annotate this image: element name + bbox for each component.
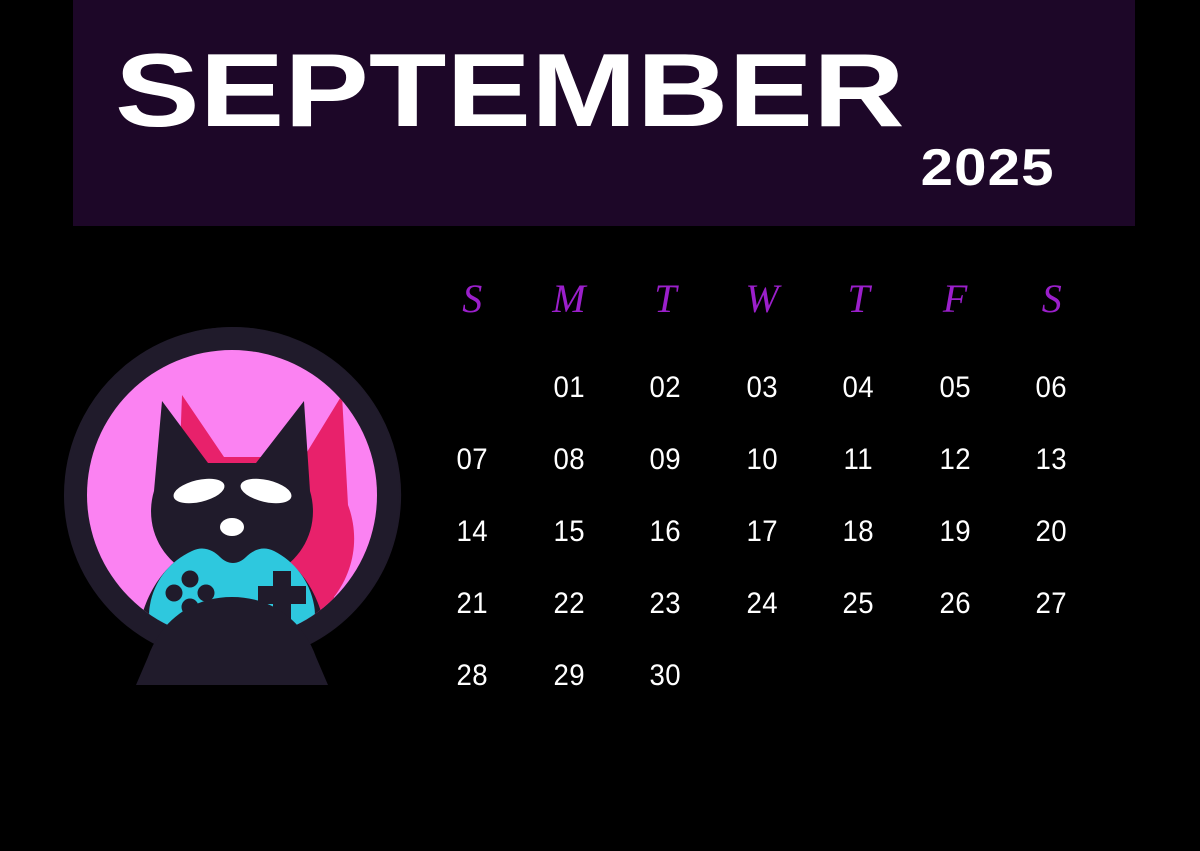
day-cell[interactable]: 10: [718, 424, 807, 496]
weekday-monday: M: [521, 277, 618, 321]
day-cell[interactable]: 23: [621, 568, 710, 640]
day-cell[interactable]: 25: [814, 568, 903, 640]
day-cell[interactable]: 19: [911, 496, 1000, 568]
day-cell[interactable]: 26: [911, 568, 1000, 640]
day-cell[interactable]: 22: [524, 568, 613, 640]
day-cell[interactable]: 27: [1007, 568, 1096, 640]
day-cell: [428, 352, 517, 424]
weekday-tuesday: T: [617, 277, 714, 321]
weekday-sunday: S: [424, 277, 521, 321]
day-cell[interactable]: 20: [1007, 496, 1096, 568]
day-cell[interactable]: 11: [814, 424, 903, 496]
calendar-page: SEPTEMBER 2025: [0, 0, 1200, 851]
day-cell[interactable]: 14: [428, 496, 517, 568]
day-cell[interactable]: 09: [621, 424, 710, 496]
page-title: SEPTEMBER: [115, 42, 1200, 140]
day-cell[interactable]: 28: [428, 640, 517, 712]
day-cell[interactable]: 06: [1007, 352, 1096, 424]
day-cell: [814, 640, 903, 712]
day-cell[interactable]: 05: [911, 352, 1000, 424]
day-cell[interactable]: 17: [718, 496, 807, 568]
day-cell[interactable]: 21: [428, 568, 517, 640]
calendar-grid: S M T W T F S 01 02 03 04 05 06 07 08 09…: [424, 268, 1100, 712]
gamer-cat-illustration: [42, 305, 422, 685]
day-cell[interactable]: 18: [814, 496, 903, 568]
days-grid: 01 02 03 04 05 06 07 08 09 10 11 12 13 1…: [424, 352, 1100, 712]
weekday-friday: F: [907, 277, 1004, 321]
day-cell[interactable]: 02: [621, 352, 710, 424]
day-cell[interactable]: 12: [911, 424, 1000, 496]
header-banner: SEPTEMBER 2025: [73, 0, 1135, 226]
day-cell[interactable]: 15: [524, 496, 613, 568]
day-cell[interactable]: 01: [524, 352, 613, 424]
day-cell: [718, 640, 807, 712]
weekday-saturday: S: [1003, 277, 1100, 321]
day-cell[interactable]: 03: [718, 352, 807, 424]
weekday-thursday: T: [810, 277, 907, 321]
day-cell: [1007, 640, 1096, 712]
day-cell: [911, 640, 1000, 712]
day-cell[interactable]: 24: [718, 568, 807, 640]
day-cell[interactable]: 13: [1007, 424, 1096, 496]
day-cell[interactable]: 04: [814, 352, 903, 424]
year-label: 2025: [921, 140, 1055, 196]
day-cell[interactable]: 08: [524, 424, 613, 496]
day-cell[interactable]: 16: [621, 496, 710, 568]
weekday-wednesday: W: [714, 277, 811, 321]
day-cell[interactable]: 30: [621, 640, 710, 712]
day-cell[interactable]: 29: [524, 640, 613, 712]
weekday-header-row: S M T W T F S: [424, 268, 1100, 330]
cat-nose: [220, 518, 244, 536]
day-cell[interactable]: 07: [428, 424, 517, 496]
